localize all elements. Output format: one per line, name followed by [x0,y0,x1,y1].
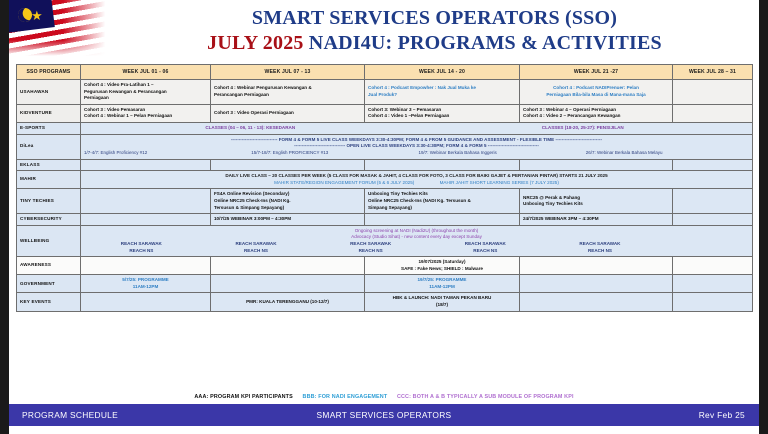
schedule-table: SSO PROGRAMS WEEK JUL 01 - 06 WEEK JUL 0… [16,64,753,312]
row-label-mahir: MAHIR [17,171,81,189]
legend-aaa: AAA: PROGRAM KPI PARTICIPANTS [194,394,293,400]
column-header-week4: WEEK JUL 21 -27 [520,65,673,80]
column-header-week5: WEEK JUL 28 – 31 [673,65,753,80]
cell-mahir-span: DAILY LIVE CLASS – 20 CLASSES PER WEEK (… [81,171,753,189]
cell-awareness-week3: 19/07/2025 (Saturday) SAFE : Fake News; … [365,257,520,275]
page-subtitle-month: JULY 2025 [207,32,303,54]
cell-awareness-week1 [81,257,211,275]
cell-key-events-week3: HBK & LAUNCH: NADI TAMAN PEKAN BARU (18/… [365,293,520,311]
row-label-government: GOVERNMENT [17,275,81,293]
cell-usahawan-week4: Cohort 4 : Podcast NADIPrenuer: Pelan Pe… [520,80,673,105]
page-subtitle: JULY 2025 NADI4U: PROGRAMS & ACTIVITIES [110,31,759,56]
cell-key-events-week1 [81,293,211,311]
cell-cybersecurity-week5 [673,214,753,226]
cell-wellbeing-span: Ongoing screening at NADI (Nadi2U) (thro… [81,225,753,256]
table-row-cybersecurity: CYBERSECURITY 10/7/25 WEBINAR 3:00PM – 4… [17,214,753,226]
legend-ccc: CCC: BOTH A & B TYPICALLY A SUB MODULE O… [397,394,574,400]
slide-left-edge [0,0,9,434]
row-label-wellbeing: WELLBEING [17,225,81,256]
cell-government-week1: 5/7/25: PROGRAMME 11AM-12PM [81,275,211,293]
legend-row: AAA: PROGRAM KPI PARTICIPANTS BBB: FOR N… [16,392,752,402]
cell-usahawan-week2: Cohort 4 : Webinar Pengurusan Kewangan &… [211,80,365,105]
wellbeing-col-2: REACH SARAWAK REACH NS [199,241,314,254]
mahir-sub-right: MAHIR JAHIT SHORT LEARNING SERIES (7 JUL… [440,180,559,185]
cell-kidventure-week5 [673,104,753,122]
cell-eklass-week4 [520,159,673,171]
mahir-sub-left: MAHIR STATE/REGION ENGAGEMENT FORUM (5 &… [274,180,414,185]
dilea-item-2: 15/7-18/7: English PROFICIENCY #13 [251,150,414,156]
table-header-row: SSO PROGRAMS WEEK JUL 01 - 06 WEEK JUL 0… [17,65,753,80]
cell-tiny-techies-week1 [81,189,211,214]
wellbeing-columns: REACH SARAWAK REACH NS REACH SARAWAK REA… [84,241,749,254]
column-header-week1: WEEK JUL 01 - 06 [81,65,211,80]
cell-eklass-week1 [81,159,211,171]
row-label-usahawan: USAHAWAN [17,80,81,105]
cell-kidventure-week1: Cohort 3 : Video Pemasaran Cohort 4 : We… [81,104,211,122]
page-subtitle-rest: NADI4U: PROGRAMS & ACTIVITIES [309,32,662,54]
cell-key-events-week2: PMR: KUALA TERENGGANU (10-12/7) [211,293,365,311]
dilea-item-3: 19/7: Webinar Berkala Bahasa Inggeris [419,150,582,156]
cell-usahawan-week1: Cohort 4 : Video Pra-Latihan 1 – Pegurus… [81,80,211,105]
row-label-eklass: EKLASS [17,159,81,171]
cell-eklass-week5 [673,159,753,171]
cell-esports-span: CLASSES (04 – 06, 11 - 13): KESEDARAN CL… [81,122,753,134]
footer-left: PROGRAM SCHEDULE [22,410,118,420]
wellbeing-top-1: Ongoing screening at NADI (Nadi2U) (thro… [84,228,749,235]
table-row-key-events: KEY EVENTS PMR: KUALA TERENGGANU (10-12/… [17,293,753,311]
cell-government-week4 [520,275,673,293]
footer-bar: SMART SERVICES OPERATORS PROGRAM SCHEDUL… [9,404,759,426]
row-label-tiny-techies: TINY TECHIES [17,189,81,214]
wellbeing-top-2: Advocacy (Studio Sihat) - new content ev… [84,234,749,241]
row-label-awareness: AWARENESS [17,257,81,275]
esports-right: CLASSES (18-20, 25-27): PENSIJILAN [417,125,750,132]
wellbeing-col-5: REACH SARAWAK REACH NS [543,241,658,254]
column-header-week2: WEEK JUL 07 - 13 [211,65,365,80]
column-header-programs: SSO PROGRAMS [17,65,81,80]
cell-cybersecurity-week1 [81,214,211,226]
table-row-awareness: AWARENESS 19/07/2025 (Saturday) SAFE : F… [17,257,753,275]
wellbeing-col-1: REACH SARAWAK REACH NS [84,241,199,254]
cell-government-week3: 19/7/25: PROGRAMME 11AM-12PM [365,275,520,293]
dilea-item-4: 26/7: Webinar Berkala Bahasa Melayu [586,150,749,156]
page-title: SMART SERVICES OPERATORS (SSO) [110,6,759,31]
dilea-banner-2: --------------------------------- OPEN L… [84,143,749,149]
cell-tiny-techies-week4: NRC25 @ Perak & Pahang Unboxing Tiny Tec… [520,189,673,214]
cell-eklass-week2 [211,159,365,171]
row-label-esports: E-SPORTS [17,122,81,134]
mahir-sub-row: MAHIR STATE/REGION ENGAGEMENT FORUM (5 &… [84,180,749,187]
esports-left: CLASSES (04 – 06, 11 - 13): KESEDARAN [84,125,417,132]
cell-usahawan-week5 [673,80,753,105]
schedule-table-wrap: SSO PROGRAMS WEEK JUL 01 - 06 WEEK JUL 0… [16,64,752,312]
cell-government-week5 [673,275,753,293]
cell-eklass-week3 [365,159,520,171]
cell-awareness-week4 [520,257,673,275]
table-row-dilea: DiLea ------------------------------ FOR… [17,134,753,159]
table-row-esports: E-SPORTS CLASSES (04 – 06, 11 - 13): KES… [17,122,753,134]
cell-tiny-techies-week2: FS4A Online Revision (Secondary) Online … [211,189,365,214]
cell-key-events-week4 [520,293,673,311]
table-row-eklass: EKLASS [17,159,753,171]
footer-right: Rev Feb 25 [699,410,745,420]
table-row-usahawan: USAHAWAN Cohort 4 : Video Pra-Latihan 1 … [17,80,753,105]
row-label-key-events: KEY EVENTS [17,293,81,311]
cell-awareness-week5 [673,257,753,275]
row-label-cybersecurity: CYBERSECURITY [17,214,81,226]
cell-tiny-techies-week3: Unboxing Tiny Techies Kits Online NRC25 … [365,189,520,214]
title-block: SMART SERVICES OPERATORS (SSO) JULY 2025… [110,6,759,56]
cell-kidventure-week4: Cohort 3 : Webinar 4 – Operasi Perniagaa… [520,104,673,122]
cell-awareness-week2 [211,257,365,275]
slide-bottom-strip [0,426,768,434]
table-row-mahir: MAHIR DAILY LIVE CLASS – 20 CLASSES PER … [17,171,753,189]
legend-bbb: BBB: FOR NADI ENGAGEMENT [303,394,388,400]
footer-center: SMART SERVICES OPERATORS [9,410,759,420]
cell-cybersecurity-week2: 10/7/25 WEBINAR 3:00PM – 4:30PM [211,214,365,226]
table-row-wellbeing: WELLBEING Ongoing screening at NADI (Nad… [17,225,753,256]
table-row-tiny-techies: TINY TECHIES FS4A Online Revision (Secon… [17,189,753,214]
cell-key-events-week5 [673,293,753,311]
wellbeing-col-3: REACH SARAWAK REACH NS [313,241,428,254]
malaysia-flag-icon: ★ [9,0,109,58]
column-header-week3: WEEK JUL 14 - 20 [365,65,520,80]
table-row-government: GOVERNMENT 5/7/25: PROGRAMME 11AM-12PM 1… [17,275,753,293]
slide-right-edge [759,0,768,434]
cell-kidventure-week2: Cohort 3 : Video Operasi Perniagaan [211,104,365,122]
dilea-item-1: 1/7-4/7: English Proficiency #12 [84,150,247,156]
mahir-banner: DAILY LIVE CLASS – 20 CLASSES PER WEEK (… [84,173,749,180]
cell-usahawan-week3: Cohort 4 : Podcast Empowher : Nak Jual M… [365,80,520,105]
wellbeing-col-6 [657,241,749,254]
row-label-kidventure: KIDVENTURE [17,104,81,122]
cell-cybersecurity-week4: 24/7/2025 WEBINAR 3PM – 4:30PM [520,214,673,226]
slide-page: ★ SMART SERVICES OPERATORS (SSO) JULY 20… [0,0,768,434]
row-label-dilea: DiLea [17,134,81,159]
dilea-items: 1/7-4/7: English Proficiency #12 15/7-18… [84,150,749,156]
cell-cybersecurity-week3 [365,214,520,226]
cell-tiny-techies-week5 [673,189,753,214]
cell-government-week2 [211,275,365,293]
cell-dilea-span: ------------------------------ FORM 4 & … [81,134,753,159]
cell-kidventure-week3: Cohort 3: Webinar 3 – Pemasaran Cohort 4… [365,104,520,122]
wellbeing-col-4: REACH SARAWAK REACH NS [428,241,543,254]
table-row-kidventure: KIDVENTURE Cohort 3 : Video Pemasaran Co… [17,104,753,122]
